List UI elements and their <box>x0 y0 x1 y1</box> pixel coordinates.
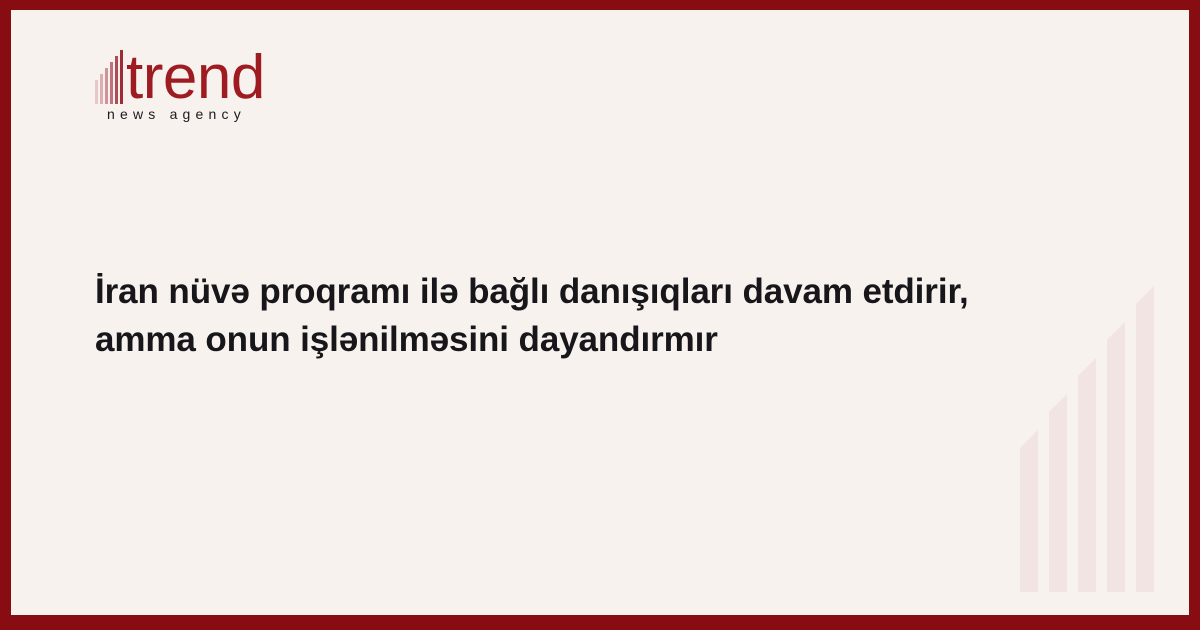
ascending-bars-icon <box>95 49 125 104</box>
watermark-bar-2 <box>1049 394 1067 592</box>
watermark-bar-3 <box>1078 358 1096 592</box>
brand-logo[interactable]: trend news agency <box>95 42 395 122</box>
ascending-bars-watermark <box>1020 162 1180 592</box>
article-headline: İran nüvə proqramı ilə bağlı danışıqları… <box>95 268 1000 363</box>
watermark-bar-4 <box>1107 322 1125 592</box>
news-share-card: trend news agency İran nüvə proqramı ilə… <box>0 0 1200 630</box>
logo-mark-row: trend <box>95 42 395 104</box>
card-canvas: trend news agency İran nüvə proqramı ilə… <box>11 10 1189 615</box>
watermark-bar-1 <box>1020 430 1038 592</box>
watermark-bar-5 <box>1136 286 1154 592</box>
logo-wordmark: trend <box>126 49 265 108</box>
